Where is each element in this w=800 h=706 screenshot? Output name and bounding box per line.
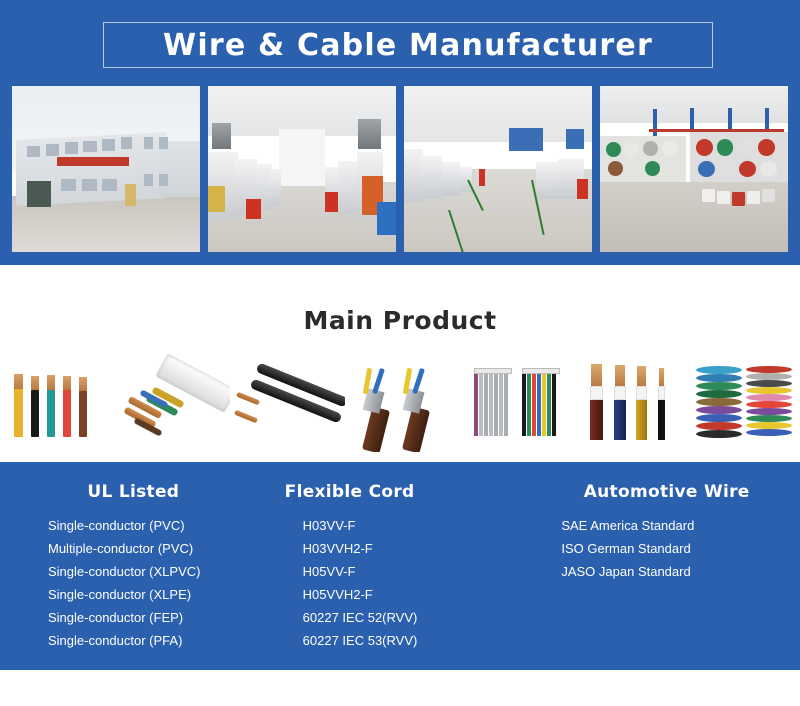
list-item: ISO German Standard [561, 537, 800, 560]
list-item: H05VVH2-F [303, 583, 534, 606]
main-product-heading: Main Product [0, 306, 800, 335]
list-item: JASO Japan Standard [561, 560, 800, 583]
header-banner: Wire & Cable Manufacturer [0, 0, 800, 265]
photo-wire-spool-warehouse [600, 86, 788, 252]
page-title: Wire & Cable Manufacturer [163, 28, 653, 63]
product-shielded-brown-cable [345, 352, 460, 452]
promotional-banner-page: Wire & Cable Manufacturer [0, 0, 800, 706]
list-item: H05VV-F [303, 560, 534, 583]
category-list: SAE America Standard ISO German Standard… [533, 514, 800, 583]
category-title: Flexible Cord [267, 482, 534, 502]
list-item: Single-conductor (XLPVC) [48, 560, 267, 583]
category-title: UL Listed [0, 482, 267, 502]
list-item: H03VV-F [303, 514, 534, 537]
factory-photo-strip [12, 86, 788, 252]
category-list: Single-conductor (PVC) Multiple-conducto… [0, 514, 267, 652]
category-column-flexible-cord: Flexible Cord H03VV-F H03VVH2-F H05VV-F … [267, 482, 534, 670]
product-jacketed-wire-set [575, 352, 690, 452]
list-item: Single-conductor (XLPE) [48, 583, 267, 606]
list-item: 60227 IEC 52(RVV) [303, 606, 534, 629]
list-item: Single-conductor (FEP) [48, 606, 267, 629]
product-black-twin-flat-cable [230, 352, 345, 452]
category-list: H03VV-F H03VVH2-F H05VV-F H05VVH2-F 6022… [267, 514, 534, 652]
list-item: Single-conductor (PVC) [48, 514, 267, 537]
product-single-conductor-wires [0, 352, 115, 452]
category-column-automotive-wire: Automotive Wire SAE America Standard ISO… [533, 482, 800, 670]
list-item: SAE America Standard [561, 514, 800, 537]
list-item: 60227 IEC 53(RVV) [303, 629, 534, 652]
product-multi-core-white-cable [115, 352, 230, 452]
product-colored-wire-coils [690, 352, 800, 452]
photo-extrusion-production-line [208, 86, 396, 252]
photo-factory-building-exterior [12, 86, 200, 252]
list-item: H03VVH2-F [303, 537, 534, 560]
category-column-ul-listed: UL Listed Single-conductor (PVC) Multipl… [0, 482, 267, 670]
product-image-strip [0, 352, 800, 452]
list-item: Single-conductor (PFA) [48, 629, 267, 652]
photo-workshop-floor [404, 86, 592, 252]
product-category-panel: UL Listed Single-conductor (PVC) Multipl… [0, 462, 800, 670]
category-title: Automotive Wire [533, 482, 800, 502]
product-ribbon-cables [460, 352, 575, 452]
title-box: Wire & Cable Manufacturer [103, 22, 713, 68]
list-item: Multiple-conductor (PVC) [48, 537, 267, 560]
